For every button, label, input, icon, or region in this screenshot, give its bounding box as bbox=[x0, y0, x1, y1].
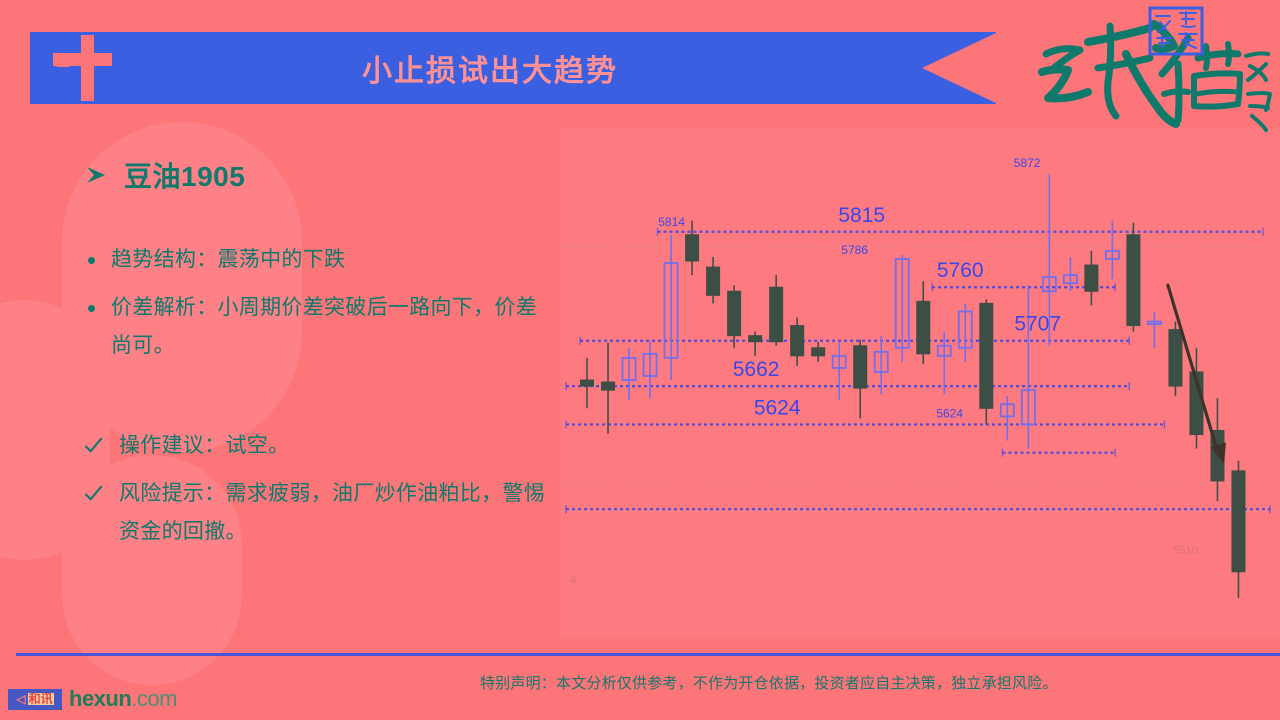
candlestick bbox=[980, 299, 993, 424]
candlestick bbox=[959, 303, 972, 362]
candlestick bbox=[1085, 251, 1098, 305]
hexun-wordmark: hexun.com bbox=[69, 688, 177, 710]
list-item: 趋势结构：震荡中的下跌 bbox=[84, 241, 554, 279]
candlestick bbox=[1064, 257, 1077, 291]
check-icon bbox=[84, 436, 103, 455]
list-item: 价差解析：小周期价差突破后一路向下，价差尚可。 bbox=[84, 289, 554, 365]
candlestick bbox=[707, 257, 720, 303]
hexun-badge-mark: ◁ bbox=[16, 693, 25, 705]
candlestick bbox=[602, 343, 615, 434]
bullet-dot-icon bbox=[88, 257, 95, 264]
candlestick bbox=[1001, 396, 1014, 440]
candlestick bbox=[728, 285, 741, 348]
price-level-label: 5872 bbox=[1014, 156, 1041, 170]
price-level-label: 5662 bbox=[733, 358, 780, 381]
candlestick bbox=[854, 340, 867, 419]
hexun-badge-cn: 和讯 bbox=[28, 693, 54, 705]
bullet-text: 趋势结构：震荡中的下跌 bbox=[111, 241, 345, 279]
spacer bbox=[84, 375, 554, 427]
bullet-text: 操作建议：试空。 bbox=[119, 427, 289, 465]
content-column: 豆油1905 趋势结构：震荡中的下跌 价差解析：小周期价差突破后一路向下，价差尚… bbox=[84, 155, 554, 561]
candlestick bbox=[833, 342, 846, 401]
bullet-dot-icon bbox=[88, 305, 95, 312]
candlestick-chart: 5815581458725786576057075662562456245510… bbox=[560, 128, 1280, 640]
slide-canvas: 小止损试出大趋势 bbox=[0, 0, 1280, 720]
candlestick bbox=[1232, 461, 1245, 598]
candlestick bbox=[665, 235, 678, 380]
list-item: 风险提示：需求疲弱，油厂炒作油粕比，警惕资金的回撤。 bbox=[84, 475, 554, 551]
candlestick bbox=[791, 318, 804, 366]
price-level-label: 5707 bbox=[1014, 313, 1061, 336]
price-level-label: 5815 bbox=[838, 204, 885, 227]
candlestick bbox=[1169, 322, 1182, 397]
list-item: 操作建议：试空。 bbox=[84, 427, 554, 465]
candlestick bbox=[749, 332, 762, 356]
bullet-text: 风险提示：需求疲弱，油厂炒作油粕比，警惕资金的回撤。 bbox=[119, 475, 554, 551]
brand-logo-calligraphy bbox=[1002, 2, 1272, 134]
candlestick bbox=[812, 342, 825, 362]
price-level-label: 5624 bbox=[754, 396, 801, 419]
candlestick bbox=[686, 221, 699, 275]
disclaimer-text: 特别声明：本文分析仅供参考，不作为开仓依据，投资者应自主决策，独立承担风险。 bbox=[480, 672, 1270, 693]
section-heading-label: 豆油1905 bbox=[124, 155, 245, 195]
hexun-word-main: hexun bbox=[69, 686, 131, 711]
price-level-label: 5760 bbox=[937, 259, 984, 282]
candlestick bbox=[1106, 221, 1119, 280]
check-icon bbox=[84, 484, 103, 503]
bullet-text: 价差解析：小周期价差突破后一路向下，价差尚可。 bbox=[111, 289, 554, 365]
candlestick bbox=[770, 275, 783, 346]
price-level-label: 5510 bbox=[1173, 544, 1197, 556]
price-level-label: 5814 bbox=[658, 215, 685, 229]
candlestick bbox=[1127, 223, 1140, 332]
footer-divider bbox=[16, 653, 1280, 656]
price-level-label: 4 bbox=[570, 575, 576, 587]
brand-hexun: ◁ 和讯 hexun.com bbox=[8, 688, 177, 710]
candlestick bbox=[1022, 285, 1035, 448]
price-level-label: 5786 bbox=[841, 243, 868, 257]
candlestick bbox=[896, 255, 909, 362]
candlestick bbox=[581, 358, 594, 408]
chart-svg: 5815581458725786576057075662562456245510… bbox=[560, 128, 1280, 640]
section-heading: 豆油1905 bbox=[84, 155, 554, 195]
hexun-word-tld: .com bbox=[131, 686, 177, 711]
candlestick bbox=[644, 342, 657, 398]
arrow-marker-icon bbox=[84, 163, 108, 187]
candlestick bbox=[623, 348, 636, 400]
candlestick bbox=[917, 281, 930, 364]
candlestick bbox=[1148, 311, 1161, 347]
hexun-badge-icon: ◁ 和讯 bbox=[8, 689, 62, 710]
page-title: 小止损试出大趋势 bbox=[30, 32, 950, 104]
price-level-label: 5624 bbox=[936, 406, 963, 420]
